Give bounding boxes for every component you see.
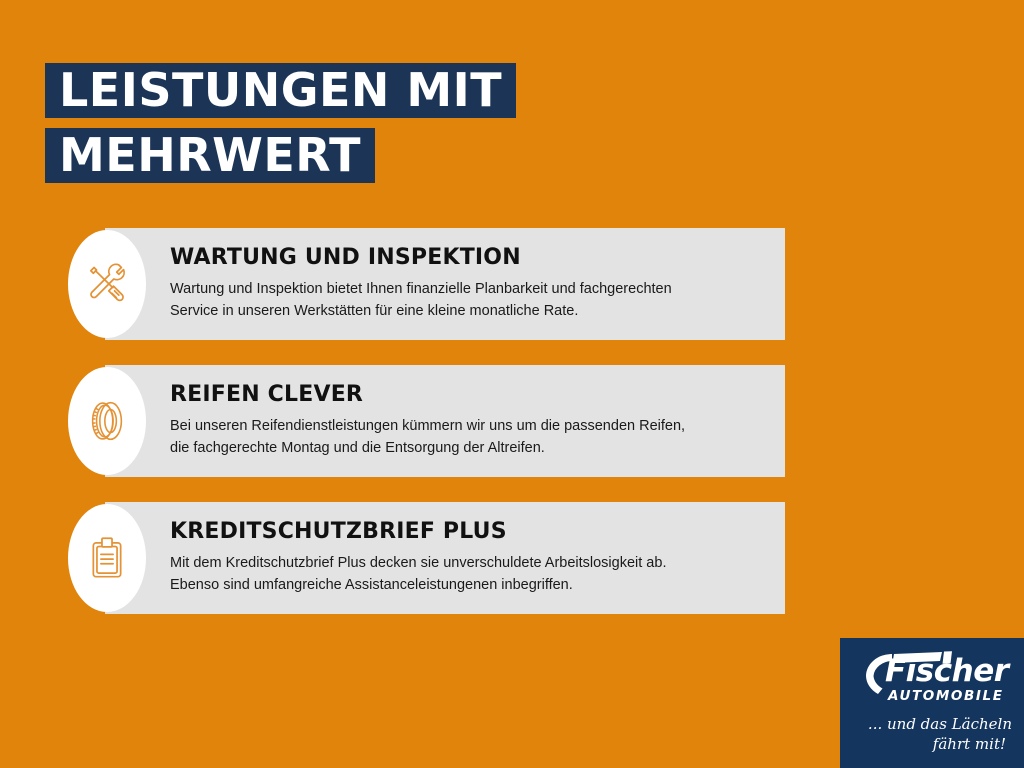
logo-tagline: ... und das Lächeln fährt mit! bbox=[850, 714, 1024, 754]
wrench-screwdriver-icon bbox=[68, 230, 146, 338]
logo-tagline-line-2: fährt mit! bbox=[850, 734, 1012, 754]
tire-icon bbox=[68, 367, 146, 475]
page-title-line-1: LEISTUNGEN MIT bbox=[45, 63, 516, 118]
card-body: Wartung und Inspektion bietet Ihnen fina… bbox=[170, 278, 770, 322]
card-text: REIFEN CLEVER Bei unseren Reifendienstle… bbox=[170, 381, 770, 459]
fischer-automobile-logo[interactable]: Fischer AUTOMOBILE ... und das Lächeln f… bbox=[840, 638, 1024, 768]
card-heading: KREDITSCHUTZBRIEF PLUS bbox=[170, 518, 770, 546]
card-body-line-1: Wartung und Inspektion bietet Ihnen fina… bbox=[170, 278, 770, 300]
card-text: WARTUNG UND INSPEKTION Wartung und Inspe… bbox=[170, 244, 770, 322]
card-body-line-1: Mit dem Kreditschutzbrief Plus decken si… bbox=[170, 552, 770, 574]
service-card-kreditschutzbrief-plus[interactable]: KREDITSCHUTZBRIEF PLUS Mit dem Kreditsch… bbox=[0, 502, 1024, 614]
card-body-line-1: Bei unseren Reifendienstleistungen kümme… bbox=[170, 415, 770, 437]
card-body-line-2: Ebenso sind umfangreiche Assistanceleist… bbox=[170, 574, 770, 596]
page-title-line-2: MEHRWERT bbox=[45, 128, 375, 183]
card-body: Mit dem Kreditschutzbrief Plus decken si… bbox=[170, 552, 770, 596]
service-card-reifen-clever[interactable]: REIFEN CLEVER Bei unseren Reifendienstle… bbox=[0, 365, 1024, 477]
service-card-list: WARTUNG UND INSPEKTION Wartung und Inspe… bbox=[0, 228, 1024, 639]
card-heading: REIFEN CLEVER bbox=[170, 381, 770, 409]
service-card-wartung-und-inspektion[interactable]: WARTUNG UND INSPEKTION Wartung und Inspe… bbox=[0, 228, 1024, 340]
card-body-line-2: Service in unseren Werkstätten für eine … bbox=[170, 300, 770, 322]
card-body: Bei unseren Reifendienstleistungen kümme… bbox=[170, 415, 770, 459]
card-heading: WARTUNG UND INSPEKTION bbox=[170, 244, 770, 272]
logo-subtitle: AUTOMOBILE bbox=[888, 688, 1004, 704]
card-body-line-2: die fachgerechte Montag und die Entsorgu… bbox=[170, 437, 770, 459]
card-text: KREDITSCHUTZBRIEF PLUS Mit dem Kreditsch… bbox=[170, 518, 770, 596]
page-title: LEISTUNGEN MIT MEHRWERT bbox=[45, 63, 605, 183]
logo-wordmark: Fischer bbox=[885, 654, 1009, 688]
clipboard-icon bbox=[68, 504, 146, 612]
logo-tagline-line-1: ... und das Lächeln bbox=[850, 714, 1012, 734]
